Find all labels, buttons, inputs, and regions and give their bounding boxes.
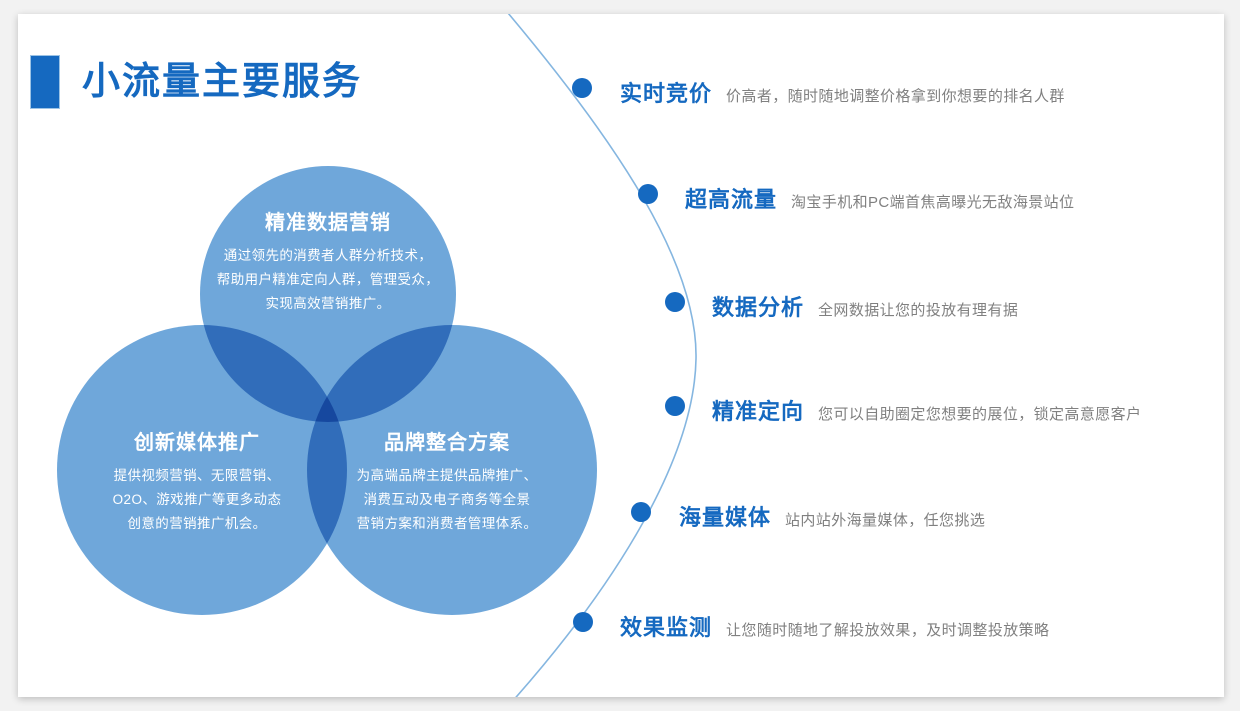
service-desc-5: 站内站外海量媒体，任您挑选	[785, 509, 985, 530]
arc-dot-icon-5[interactable]	[631, 502, 651, 522]
service-title-6: 效果监测	[620, 610, 712, 642]
service-item-4[interactable]: 精准定向 您可以自助圈定您想要的展位，锁定高意愿客户	[712, 394, 1141, 426]
service-desc-3: 全网数据让您的投放有理有据	[818, 299, 1018, 320]
arc-dot-icon-1[interactable]	[572, 78, 592, 98]
service-item-2[interactable]: 超高流量 淘宝手机和PC端首焦高曝光无敌海景站位	[685, 182, 1074, 214]
arc-connector	[458, 14, 758, 697]
service-desc-6: 让您随时随地了解投放效果，及时调整投放策略	[726, 619, 1049, 640]
venn-circle-left	[57, 325, 347, 615]
service-item-6[interactable]: 效果监测 让您随时随地了解投放效果，及时调整投放策略	[620, 610, 1049, 642]
service-title-1: 实时竞价	[620, 76, 712, 108]
arc-dot-icon-4[interactable]	[665, 396, 685, 416]
service-desc-4: 您可以自助圈定您想要的展位，锁定高意愿客户	[818, 403, 1141, 424]
service-item-1[interactable]: 实时竞价 价高者，随时随地调整价格拿到你想要的排名人群	[620, 76, 1065, 108]
service-item-3[interactable]: 数据分析 全网数据让您的投放有理有据	[712, 290, 1018, 322]
service-title-4: 精准定向	[712, 394, 804, 426]
service-title-5: 海量媒体	[679, 500, 771, 532]
arc-dot-icon-2[interactable]	[638, 184, 658, 204]
service-title-3: 数据分析	[712, 290, 804, 322]
slide-card: 小流量主要服务 精准数据营销 通过领先的消费者人群分析技术， 帮助用户精准定向人…	[18, 14, 1224, 697]
service-desc-2: 淘宝手机和PC端首焦高曝光无敌海景站位	[791, 191, 1074, 212]
service-desc-1: 价高者，随时随地调整价格拿到你想要的排名人群	[726, 85, 1065, 106]
slide-root: 小流量主要服务 精准数据营销 通过领先的消费者人群分析技术， 帮助用户精准定向人…	[0, 0, 1240, 711]
service-item-5[interactable]: 海量媒体 站内站外海量媒体，任您挑选	[679, 500, 985, 532]
arc-path	[508, 14, 696, 697]
arc-dot-icon-3[interactable]	[665, 292, 685, 312]
arc-dot-icon-6[interactable]	[573, 612, 593, 632]
service-title-2: 超高流量	[685, 182, 777, 214]
